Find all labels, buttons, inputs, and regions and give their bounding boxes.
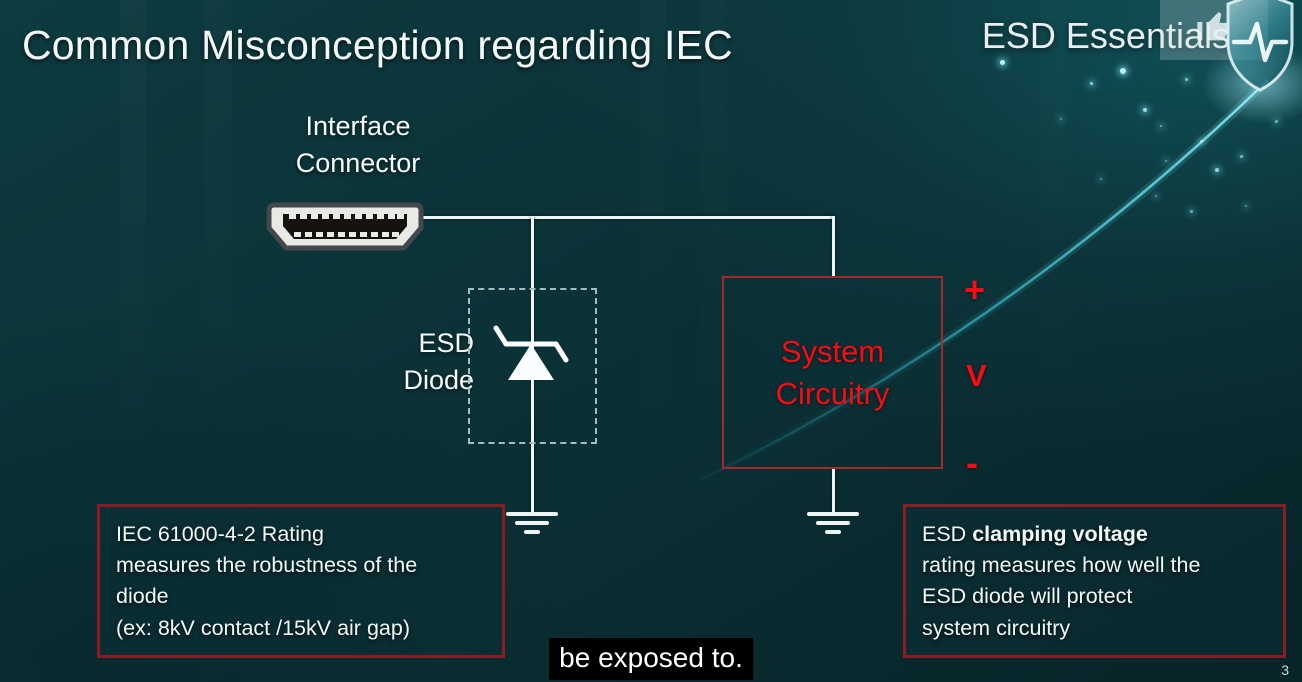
connector-label-line1: Interface [268,108,448,145]
diode-label-line1: ESD [344,325,474,362]
callout-clamping-voltage: ESD clamping voltage rating measures how… [903,504,1286,658]
system-circuitry-line1: System [781,331,884,373]
voltage-measure-label: V [966,360,987,391]
callout-iec-line4: (ex: 8kV contact /15kV air gap) [116,613,488,644]
interface-connector-label: Interface Connector [268,108,448,183]
slide-canvas: Common Misconception regarding IEC ESD E… [0,0,1302,682]
ground-symbol-icon [504,508,560,538]
polarity-plus-label: + [964,272,985,308]
callout-clamping-line3: ESD diode will protect [922,581,1269,612]
callout-clamping-line4: system circuitry [922,613,1269,644]
esd-diode-label: ESD Diode [344,325,474,400]
hdmi-connector-icon [266,202,424,252]
callout-clamping-line1: ESD clamping voltage [922,519,1269,550]
callout-iec-rating: IEC 61000-4-2 Rating measures the robust… [97,504,505,658]
video-caption: be exposed to. [549,638,753,680]
shield-pulse-icon [1224,0,1296,94]
callout-iec-line3: diode [116,581,488,612]
ground-symbol-icon [805,508,861,538]
page-title: Common Misconception regarding IEC [22,22,733,69]
callout-clamping-prefix: ESD [922,522,972,546]
page-number: 3 [1281,662,1289,678]
callout-clamping-line2: rating measures how well the [922,550,1269,581]
tvs-zener-diode-icon [492,318,576,398]
callout-clamping-bold: clamping voltage [972,522,1148,546]
connector-label-line2: Connector [268,145,448,182]
system-circuitry-line2: Circuitry [776,373,890,415]
diode-label-line2: Diode [344,362,474,399]
polarity-minus-label: - [966,445,978,481]
system-circuitry-block: System Circuitry [722,276,943,469]
wire-connector-to-node [420,216,835,219]
callout-iec-line1: IEC 61000-4-2 Rating [116,519,488,550]
wire-node-to-system [832,216,835,278]
callout-iec-line2: measures the robustness of the [116,550,488,581]
